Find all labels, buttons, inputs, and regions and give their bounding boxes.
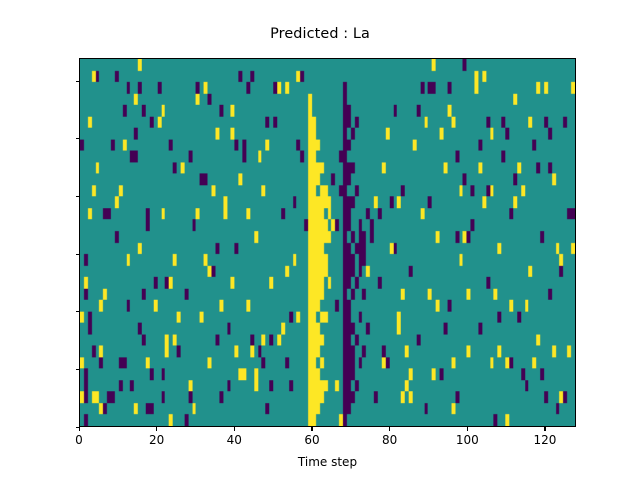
x-tick-mark — [234, 427, 235, 431]
x-tick-label: 0 — [49, 433, 109, 447]
heatmap-canvas[interactable] — [80, 59, 575, 426]
x-tick-label: 80 — [360, 433, 420, 447]
x-tick-mark — [79, 427, 80, 431]
x-tick-label: 60 — [282, 433, 342, 447]
x-tick-mark — [467, 427, 468, 431]
x-tick-label: 120 — [515, 433, 575, 447]
matplotlib-figure: Predicted : La Frequency (Hz) 0200004000… — [0, 0, 640, 480]
x-tick-label: 20 — [127, 433, 187, 447]
x-tick-mark — [311, 427, 312, 431]
x-tick-mark — [156, 427, 157, 431]
x-axis-label: Time step — [79, 455, 576, 469]
x-tick-label: 100 — [437, 433, 497, 447]
x-tick-mark — [544, 427, 545, 431]
x-tick-label: 40 — [204, 433, 264, 447]
page-title: Predicted : La — [0, 26, 640, 42]
heatmap-axes[interactable] — [79, 58, 576, 427]
x-tick-mark — [389, 427, 390, 431]
